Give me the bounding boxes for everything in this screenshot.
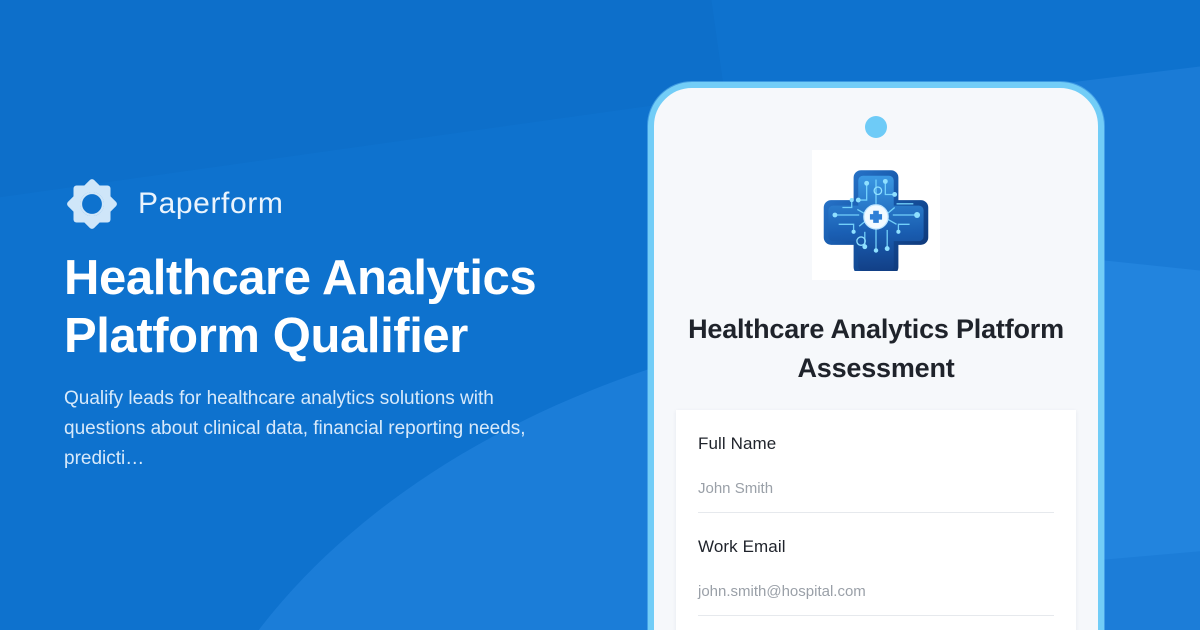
- form-field-work-email[interactable]: Work Email john.smith@hospital.com: [676, 513, 1076, 616]
- page-title: Healthcare Analytics Platform Qualifier: [64, 249, 604, 365]
- form-hero-image: [812, 150, 940, 280]
- field-label-work-email: Work Email: [698, 537, 1054, 557]
- full-name-input[interactable]: John Smith: [698, 480, 1054, 513]
- hero-content-column: Paperform Healthcare Analytics Platform …: [64, 0, 624, 630]
- page-description: Qualify leads for healthcare analytics s…: [64, 384, 544, 474]
- work-email-input[interactable]: john.smith@hospital.com: [698, 583, 1054, 616]
- brand-lockup: Paperform: [64, 176, 283, 232]
- paperform-logo-icon: [64, 176, 120, 232]
- form-title: Healthcare Analytics Platform Assessment: [654, 310, 1098, 388]
- brand-name: Paperform: [138, 187, 283, 221]
- form-field-full-name[interactable]: Full Name John Smith: [676, 410, 1076, 513]
- camera-dot-icon: [865, 116, 887, 138]
- medical-cross-circuit-icon: [820, 159, 932, 271]
- form-card: Full Name John Smith Work Email john.smi…: [676, 410, 1076, 630]
- phone-mockup: Healthcare Analytics Platform Assessment…: [648, 82, 1104, 630]
- field-label-full-name: Full Name: [698, 434, 1054, 454]
- social-preview-card: Paperform Healthcare Analytics Platform …: [0, 0, 1200, 630]
